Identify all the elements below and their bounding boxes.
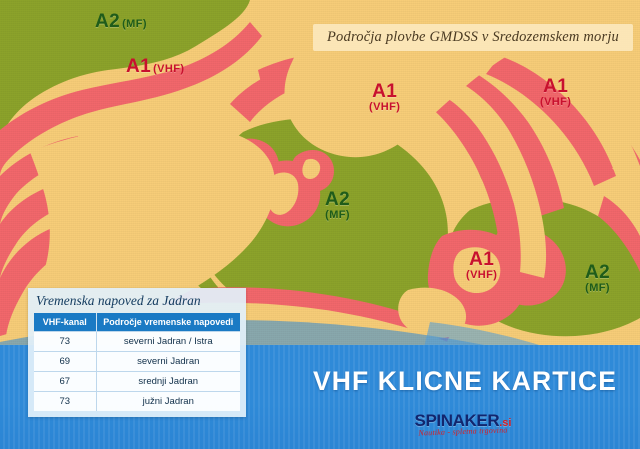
zone-label-main: A2	[585, 263, 610, 282]
forecast-channel-cell: 73	[34, 332, 96, 352]
forecast-table-body: 73severni Jadran / Istra69severni Jadran…	[34, 332, 240, 412]
forecast-row: 69severni Jadran	[34, 352, 240, 372]
column-header-forecast-area: Področje vremenske napovedi	[96, 313, 240, 332]
poster-root: A2(MF)A1(VHF)A1(VHF)A1(VHF)A2(MF)A1(VHF)…	[0, 0, 640, 449]
map-title-banner: Področja plovbe GMDSS v Sredozemskem mor…	[313, 24, 633, 51]
column-header-vhf-channel: VHF-kanal	[34, 313, 96, 332]
zone-label-main: A2	[325, 190, 350, 209]
zone-label-main: A2	[95, 11, 120, 32]
forecast-area-cell: srednji Jadran	[96, 372, 240, 392]
forecast-channel-cell: 67	[34, 372, 96, 392]
zone-label-a2-western-med: A2(MF)	[325, 190, 350, 221]
zone-label-sub: (VHF)	[153, 63, 184, 75]
forecast-table: VHF-kanal Področje vremenske napovedi 73…	[34, 313, 240, 411]
zone-label-sub: (VHF)	[540, 97, 571, 108]
zone-label-sub: (VHF)	[466, 270, 497, 281]
forecast-row: 73severni Jadran / Istra	[34, 332, 240, 352]
forecast-channel-cell: 69	[34, 352, 96, 372]
zone-label-a2-ionian: A2(MF)	[585, 263, 610, 294]
zone-label-sub: (MF)	[585, 283, 610, 294]
map-title-text: Področja plovbe GMDSS v Sredozemskem mor…	[327, 29, 619, 46]
forecast-area-cell: severni Jadran	[96, 352, 240, 372]
zone-label-a1-sicily-channel: A1(VHF)	[466, 250, 497, 281]
forecast-card-title: Vremenska napoved za Jadran	[28, 288, 246, 313]
zone-label-a1-gulf-of-lion: A1(VHF)	[369, 82, 400, 113]
forecast-table-header-row: VHF-kanal Področje vremenske napovedi	[34, 313, 240, 332]
zone-label-main: A1	[369, 82, 400, 101]
forecast-row: 73južni Jadran	[34, 392, 240, 412]
forecast-channel-cell: 73	[34, 392, 96, 412]
zone-label-main: A1	[126, 56, 151, 77]
weather-forecast-card: Vremenska napoved za Jadran VHF-kanal Po…	[28, 288, 246, 417]
zone-label-sub: (VHF)	[369, 102, 400, 113]
zone-label-sub: (MF)	[122, 18, 147, 30]
zone-label-a1-adriatic-east: A1(VHF)	[540, 77, 571, 108]
forecast-row: 67srednji Jadran	[34, 372, 240, 392]
poster-headline: VHF KLICNE KARTICE	[305, 366, 625, 397]
zone-label-a1-iberia-coast: A1(VHF)	[126, 57, 184, 76]
zone-label-sub: (MF)	[325, 210, 350, 221]
zone-label-main: A1	[540, 77, 571, 96]
forecast-area-cell: južni Jadran	[96, 392, 240, 412]
spinaker-logo[interactable]: SPINAKER.si Nautika - spletna trgovina	[383, 412, 543, 436]
zone-label-main: A1	[466, 250, 497, 269]
forecast-area-cell: severni Jadran / Istra	[96, 332, 240, 352]
zone-label-a2-iberia-north: A2(MF)	[95, 12, 147, 31]
